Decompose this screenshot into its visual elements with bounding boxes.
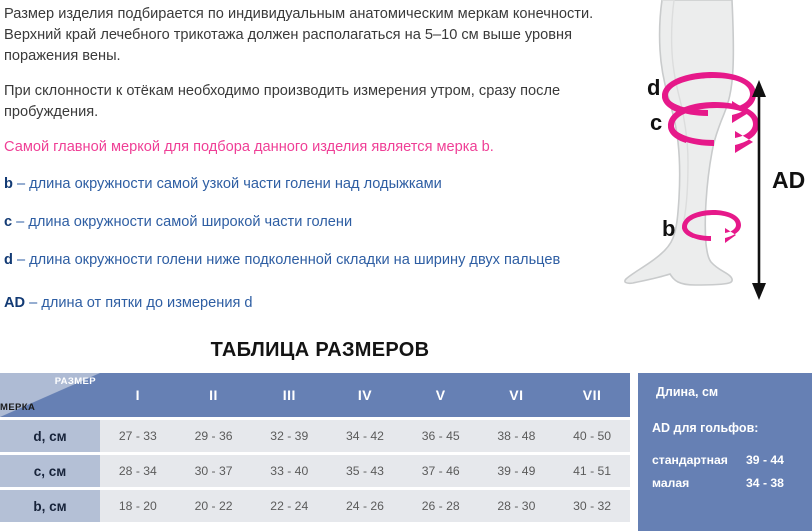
length-panel-title: Длина, см xyxy=(656,385,798,399)
measurement-text-c: длина окружности самой широкой части гол… xyxy=(28,214,352,230)
row-label-d: d, см xyxy=(0,419,100,454)
cell-c-2: 30 - 37 xyxy=(176,454,252,489)
leg-measurement-diagram: d c b AD xyxy=(600,0,812,330)
measurement-dash-ad: – xyxy=(25,295,41,311)
table-column-header-4: IV xyxy=(327,373,403,419)
table-column-header-2: II xyxy=(176,373,252,419)
length-standard-value: 39 - 44 xyxy=(746,453,798,467)
table-column-header-6: VI xyxy=(479,373,555,419)
diagram-label-d: d xyxy=(647,75,660,100)
cell-b-1: 18 - 20 xyxy=(100,489,176,523)
measurement-dash-d: – xyxy=(13,252,29,268)
cell-b-6: 28 - 30 xyxy=(479,489,555,523)
measurement-key-b: b xyxy=(4,176,13,192)
table-column-header-3: III xyxy=(251,373,327,419)
cell-b-5: 26 - 28 xyxy=(403,489,479,523)
cell-d-3: 32 - 39 xyxy=(251,419,327,454)
highlight-note: Самой главной меркой для подбора данного… xyxy=(4,137,604,158)
corner-label-measure: МЕРКА xyxy=(0,402,35,413)
cell-c-4: 35 - 43 xyxy=(327,454,403,489)
table-column-header-7: VII xyxy=(554,373,630,419)
measurement-text-ad: длина от пятки до измерения d xyxy=(41,295,252,311)
row-label-b: b, см xyxy=(0,489,100,523)
measurement-text-b: длина окружности самой узкой части голен… xyxy=(29,176,442,192)
leg-silhouette-icon xyxy=(625,0,734,285)
measurement-definition-ad: AD – длина от пятки до измерения d xyxy=(4,293,604,314)
measurement-key-c: c xyxy=(4,214,12,230)
cell-b-2: 20 - 22 xyxy=(176,489,252,523)
cell-d-6: 38 - 48 xyxy=(479,419,555,454)
table-column-header-1: I xyxy=(100,373,176,419)
table-column-header-5: V xyxy=(403,373,479,419)
table-row: b, см 18 - 20 20 - 22 22 - 24 24 - 26 26… xyxy=(0,489,630,523)
measurement-dash-b: – xyxy=(13,176,29,192)
measurement-definition-c: c – длина окружности самой широкой части… xyxy=(4,212,604,233)
diagram-label-b: b xyxy=(662,216,675,241)
diagram-label-c: c xyxy=(650,110,662,135)
cell-c-7: 41 - 51 xyxy=(554,454,630,489)
cell-d-1: 27 - 33 xyxy=(100,419,176,454)
table-header-row: РАЗМЕР МЕРКА I II III IV V VI VII xyxy=(0,373,630,419)
row-label-c: с, см xyxy=(0,454,100,489)
ad-dimension-arrow-icon xyxy=(752,80,766,300)
intro-paragraph-1: Размер изделия подбирается по индивидуал… xyxy=(4,4,604,67)
cell-d-5: 36 - 45 xyxy=(403,419,479,454)
length-small-name: малая xyxy=(652,476,689,490)
cell-d-7: 40 - 50 xyxy=(554,419,630,454)
cell-b-7: 30 - 32 xyxy=(554,489,630,523)
cell-c-3: 33 - 40 xyxy=(251,454,327,489)
length-panel: Длина, см AD для гольфов: стандартная 39… xyxy=(638,373,812,531)
cell-b-3: 22 - 24 xyxy=(251,489,327,523)
measurement-key-d: d xyxy=(4,252,13,268)
size-table: РАЗМЕР МЕРКА I II III IV V VI VII d, см … xyxy=(0,373,630,522)
measurement-definition-b: b – длина окружности самой узкой части г… xyxy=(4,174,604,195)
cell-d-4: 34 - 42 xyxy=(327,419,403,454)
corner-label-size: РАЗМЕР xyxy=(55,376,96,387)
length-standard-name: стандартная xyxy=(652,453,728,467)
table-row: d, см 27 - 33 29 - 36 32 - 39 34 - 42 36… xyxy=(0,419,630,454)
measurement-definition-d: d – длина окружности голени ниже подколе… xyxy=(4,250,604,271)
cell-c-5: 37 - 46 xyxy=(403,454,479,489)
length-panel-row-small: малая 34 - 38 xyxy=(652,476,798,490)
measurement-dash-c: – xyxy=(12,214,28,230)
cell-c-1: 28 - 34 xyxy=(100,454,176,489)
table-corner-cell: РАЗМЕР МЕРКА xyxy=(0,373,100,419)
diagram-label-ad: AD xyxy=(772,167,805,193)
cell-d-2: 29 - 36 xyxy=(176,419,252,454)
cell-b-4: 24 - 26 xyxy=(327,489,403,523)
length-small-value: 34 - 38 xyxy=(746,476,798,490)
intro-paragraph-2: При склонности к отёкам необходимо произ… xyxy=(4,81,604,123)
cell-c-6: 39 - 49 xyxy=(479,454,555,489)
length-panel-row-standard: стандартная 39 - 44 xyxy=(652,453,798,467)
measurement-text-d: длина окружности голени ниже подколенной… xyxy=(29,252,560,268)
size-table-title: ТАБЛИЦА РАЗМЕРОВ xyxy=(0,339,640,362)
length-panel-subtitle: AD для гольфов: xyxy=(652,421,798,435)
instructions-text-block: Размер изделия подбирается по индивидуал… xyxy=(4,4,604,331)
table-row: с, см 28 - 34 30 - 37 33 - 40 35 - 43 37… xyxy=(0,454,630,489)
measurement-key-ad: AD xyxy=(4,295,25,311)
